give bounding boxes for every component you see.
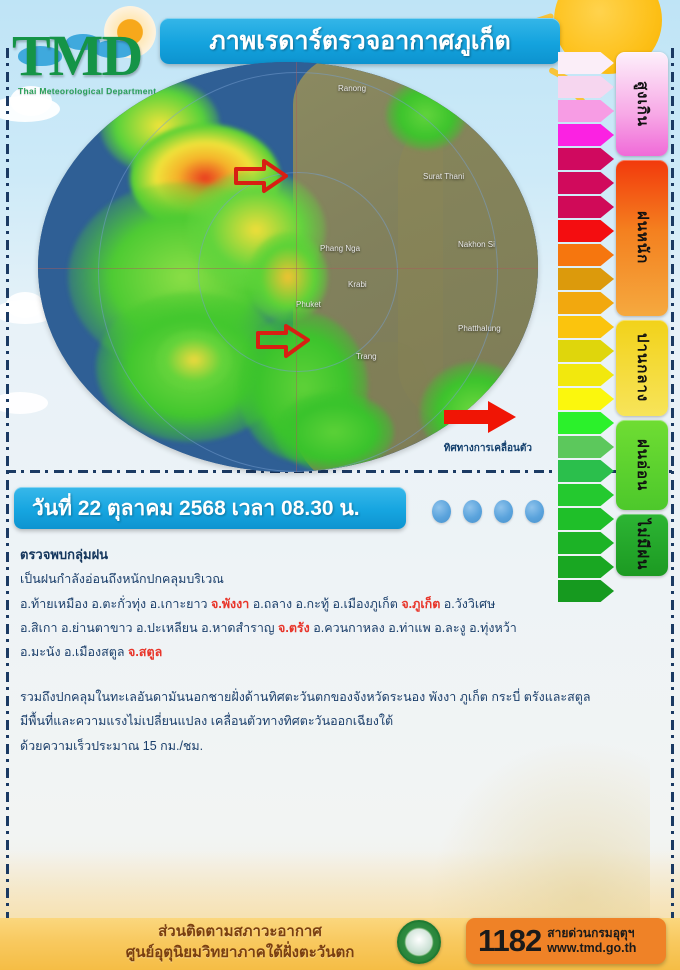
radar-range-ring xyxy=(98,72,498,472)
legend-tag-very-high: สูงเกิน xyxy=(616,52,668,156)
report-para2-line-3: ด้วยความเร็วประมาณ 15 กม./ชม. xyxy=(20,734,620,758)
map-label: Phatthalung xyxy=(458,324,501,333)
hotline-number: 1182 xyxy=(478,923,541,959)
report-line-3: อ.สิเกา อ.ย่านตาขาว อ.ปะเหลียน อ.หาดสำรา… xyxy=(20,616,620,640)
province-name-highlight: จ.ตรัง xyxy=(278,621,310,635)
legend-color-chip xyxy=(558,268,614,290)
report-line-1: เป็นฝนกำลังอ่อนถึงหนักปกคลุมบริเวณ xyxy=(20,567,620,591)
report-para2-line-2: มีพื้นที่และความแรงไม่เปลี่ยนแปลง เคลื่อ… xyxy=(20,709,620,733)
annotation-arrow-icon xyxy=(256,324,310,360)
radar-image: Ranong Surat Thani Phang Nga Nakhon Si P… xyxy=(38,62,538,472)
legend-color-chip xyxy=(558,412,614,434)
footer-org-line-1: ส่วนติดตามสภาวะอากาศ xyxy=(90,921,390,943)
movement-direction-arrow-icon xyxy=(444,400,516,434)
legend-color-chip xyxy=(558,100,614,122)
hotline-badge[interactable]: 1182 สายด่วนกรมอุตุฯ www.tmd.go.th xyxy=(466,918,666,964)
province-name-highlight: จ.พังงา xyxy=(211,597,249,611)
frame-border-left xyxy=(6,48,9,928)
legend-color-chip xyxy=(558,124,614,146)
report-paragraph-2: รวมถึงปกคลุมในทะเลอันดามันนอกชายฝั่งด้าน… xyxy=(20,685,620,758)
legend-color-chip xyxy=(558,52,614,74)
legend-color-chip xyxy=(558,244,614,266)
report-body: ตรวจพบกลุ่มฝน เป็นฝนกำลังอ่อนถึงหนักปกคล… xyxy=(20,542,620,758)
legend-color-chip xyxy=(558,148,614,170)
date-time-text: วันที่ 22 ตุลาคม 2568 เวลา 08.30 น. xyxy=(32,492,360,525)
legend-tag-no-rain: ไม่มีฝน xyxy=(616,514,668,576)
map-label: Phang Nga xyxy=(320,244,360,253)
legend-color-chip xyxy=(558,220,614,242)
map-label: Phuket xyxy=(296,300,321,309)
date-time-banner: วันที่ 22 ตุลาคม 2568 เวลา 08.30 น. xyxy=(14,487,406,529)
legend-color-chip xyxy=(558,172,614,194)
legend-color-chip xyxy=(558,436,614,458)
legend-tag-label: ฝนอ่อน xyxy=(630,439,654,491)
page-title: ภาพเรดาร์ตรวจอากาศภูเก็ต xyxy=(160,18,560,64)
report-line-4: อ.มะนัง อ.เมืองสตูล จ.สตูล xyxy=(20,640,620,664)
legend-labels: สูงเกิน ฝนหนัก ปานกลาง ฝนอ่อน ไม่มีฝน xyxy=(616,52,674,580)
map-label: Trang xyxy=(356,352,377,361)
radar-axis-line xyxy=(296,62,297,472)
seal-inner-emblem xyxy=(406,929,432,955)
legend-color-chip xyxy=(558,76,614,98)
palm-shadow-decoration xyxy=(420,730,650,940)
raindrop-icon xyxy=(494,500,513,523)
legend-tag-label: ไม่มีฝน xyxy=(630,519,654,570)
radar-axis-line xyxy=(38,268,538,269)
movement-direction-label: ทิศทางการเคลื่อนตัว xyxy=(444,441,532,456)
map-label: Krabi xyxy=(348,280,367,289)
report-line-2: อ.ท้ายเหมือง อ.ตะกั่วทุ่ง อ.เกาะยาว จ.พั… xyxy=(20,592,620,616)
raindrop-icon xyxy=(432,500,451,523)
footer-org-line-2: ศูนย์อุตุนิยมวิทยาภาคใต้ฝั่งตะวันตก xyxy=(90,942,390,964)
legend-color-chip xyxy=(558,484,614,506)
radar-intensity-legend: สูงเกิน ฝนหนัก ปานกลาง ฝนอ่อน ไม่มีฝน xyxy=(558,52,676,572)
legend-color-chip xyxy=(558,364,614,386)
legend-color-chip xyxy=(558,292,614,314)
legend-color-chip xyxy=(558,316,614,338)
weather-radar-poster: TMD Thai Meteorological Department ภาพเร… xyxy=(0,0,680,970)
report-para2-line-1: รวมถึงปกคลุมในทะเลอันดามันนอกชายฝั่งด้าน… xyxy=(20,685,620,709)
hotline-label: สายด่วนกรมอุตุฯ xyxy=(547,926,636,941)
legend-color-chip xyxy=(558,388,614,410)
legend-color-chip xyxy=(558,460,614,482)
legend-tag-light-rain: ฝนอ่อน xyxy=(616,420,668,510)
legend-color-chip xyxy=(558,340,614,362)
website-url[interactable]: www.tmd.go.th xyxy=(547,941,636,957)
district-name-text: อ.มะนัง อ.เมืองสตูล xyxy=(20,645,128,659)
page-title-text: ภาพเรดาร์ตรวจอากาศภูเก็ต xyxy=(209,21,511,61)
district-name-text: อ.ถลาง อ.กะทู้ อ.เมืองภูเก็ต xyxy=(249,597,401,611)
legend-tag-label: สูงเกิน xyxy=(630,81,654,127)
report-heading: ตรวจพบกลุ่มฝน xyxy=(20,542,620,567)
raindrop-icon xyxy=(463,500,482,523)
legend-tag-heavy-rain: ฝนหนัก xyxy=(616,160,668,316)
district-name-text: อ.สิเกา อ.ย่านตาขาว อ.ปะเหลียน อ.หาดสำรา… xyxy=(20,621,278,635)
district-name-text: อ.วังวิเศษ xyxy=(440,597,495,611)
footer-organization: ส่วนติดตามสภาวะอากาศ ศูนย์อุตุนิยมวิทยาภ… xyxy=(90,921,390,965)
map-label: Surat Thani xyxy=(423,172,464,181)
legend-tag-label: ปานกลาง xyxy=(630,333,654,402)
district-name-text: อ.ท้ายเหมือง อ.ตะกั่วทุ่ง อ.เกาะยาว xyxy=(20,597,211,611)
hotline-details: สายด่วนกรมอุตุฯ www.tmd.go.th xyxy=(547,926,636,957)
legend-tag-moderate-rain: ปานกลาง xyxy=(616,320,668,416)
legend-color-chip xyxy=(558,196,614,218)
legend-color-chips xyxy=(558,52,614,604)
district-name-text: อ.ควนกาหลง อ.ท่าแพ อ.ละงู อ.ทุ่งหว้า xyxy=(310,621,517,635)
map-label: Ranong xyxy=(338,84,366,93)
raindrop-icon xyxy=(525,500,544,523)
raindrop-decorations xyxy=(432,500,544,523)
legend-tag-label: ฝนหนัก xyxy=(630,211,654,264)
province-name-highlight: จ.ภูเก็ต xyxy=(401,597,440,611)
annotation-arrow-icon xyxy=(234,158,288,194)
map-label: Nakhon Si xyxy=(458,240,495,249)
legend-color-chip xyxy=(558,508,614,530)
government-seal-icon xyxy=(397,920,441,964)
province-name-highlight: จ.สตูล xyxy=(128,645,162,659)
